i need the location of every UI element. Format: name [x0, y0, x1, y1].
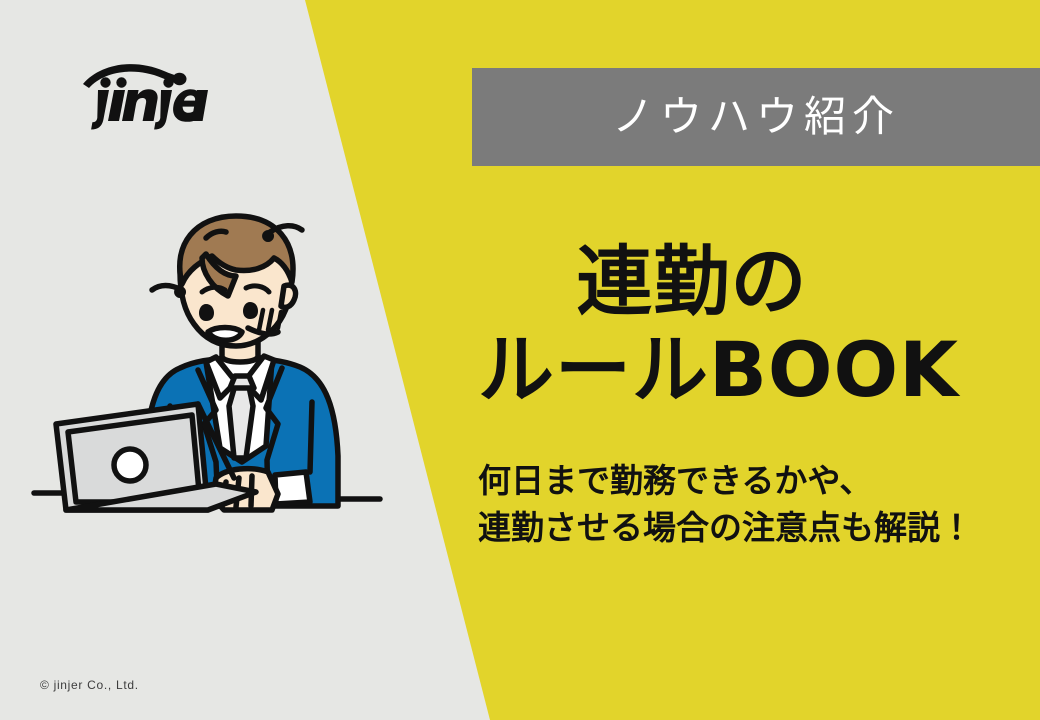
- hair-strand-top-right-tip: [262, 230, 274, 242]
- necktie: [229, 382, 253, 458]
- ebook-cover-slide: ノウハウ紹介 連勤の ルールBOOK 何日まで勤務できるかや、 連勤させる場合の…: [0, 0, 1040, 720]
- copyright-notice: © jinjer Co., Ltd.: [40, 678, 139, 692]
- jinjer-logo: [78, 62, 208, 130]
- suit-sleeve-right-seam: [310, 402, 312, 472]
- ear: [281, 285, 296, 307]
- title-line-1: 連勤の: [472, 238, 1032, 326]
- laptop-logo-circle: [114, 449, 146, 481]
- subtitle-line-2: 連勤させる場合の注意点も解説！: [478, 505, 1038, 552]
- page-title: 連勤の ルールBOOK: [472, 238, 1032, 414]
- subtitle-line-1: 何日まで勤務できるかや、: [478, 458, 1038, 505]
- hair-strand-left-tip: [174, 286, 186, 298]
- category-band-label: ノウハウ紹介: [612, 96, 900, 138]
- hair-strand-top-right: [270, 226, 302, 232]
- shirt-cuff: [275, 472, 310, 504]
- eye-right: [243, 302, 258, 319]
- jinjer-wordmark-glyphs: [91, 77, 208, 129]
- page-subtitle: 何日まで勤務できるかや、 連勤させる場合の注意点も解説！: [478, 458, 1038, 552]
- eye-left: [199, 304, 214, 321]
- stressed-businessman-illustration: [20, 210, 420, 530]
- necktie-knot: [230, 376, 254, 388]
- title-line-2: ルールBOOK: [472, 326, 1032, 414]
- category-band: ノウハウ紹介: [472, 68, 1040, 166]
- mouth: [208, 328, 242, 341]
